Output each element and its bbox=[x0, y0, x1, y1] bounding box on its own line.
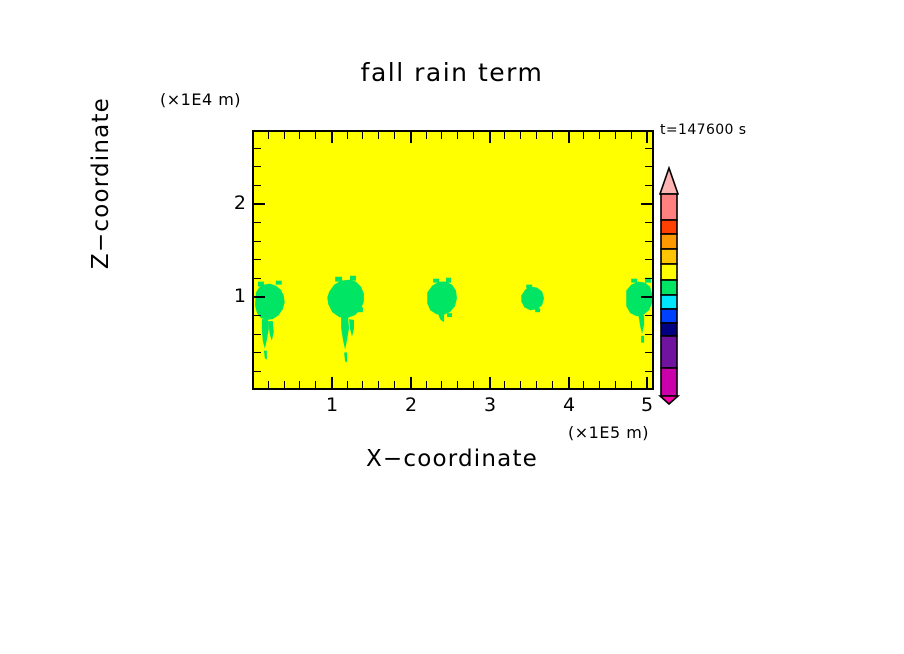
y-axis-unit-label: (×1E4 m) bbox=[160, 90, 241, 109]
y-tick-label-1: 1 bbox=[206, 285, 246, 307]
figure-canvas: fall rain term (×1E4 m) Z−coordinate bbox=[0, 0, 904, 654]
colorbar-band-10 bbox=[661, 368, 677, 396]
colorbar-band-9 bbox=[661, 336, 677, 368]
colorbar-band-5 bbox=[661, 280, 677, 295]
x-tick-label-2: 2 bbox=[391, 394, 431, 416]
plot-area bbox=[252, 130, 654, 390]
colorbar: 0.003 0 −0.003 −9.9e−3 bbox=[658, 166, 688, 406]
x-tick-label-1: 1 bbox=[312, 394, 352, 416]
y-axis-label: Z−coordinate bbox=[88, 73, 114, 293]
x-tick-label-3: 3 bbox=[470, 394, 510, 416]
colorbar-band-4 bbox=[661, 264, 677, 280]
y-tick-label-2: 2 bbox=[206, 192, 246, 214]
field-background bbox=[254, 132, 652, 388]
page-title: fall rain term bbox=[0, 58, 904, 87]
scalar-field-render bbox=[254, 132, 652, 388]
colorbar-band-8 bbox=[661, 323, 677, 336]
x-axis-unit-label: (×1E5 m) bbox=[568, 423, 649, 442]
x-axis-label: X−coordinate bbox=[0, 446, 904, 472]
colorbar-band-1 bbox=[661, 220, 677, 234]
colorbar-band-7 bbox=[661, 309, 677, 323]
x-tick-label-4: 4 bbox=[549, 394, 589, 416]
colorbar-band-6 bbox=[661, 295, 677, 309]
colorbar-cap-bottom bbox=[660, 396, 678, 404]
colorbar-band-3 bbox=[661, 249, 677, 264]
colorbar-band-0 bbox=[661, 194, 677, 220]
colorbar-gradient bbox=[658, 166, 688, 406]
time-annotation: t=147600 s bbox=[660, 122, 746, 138]
colorbar-cap-top bbox=[660, 168, 678, 194]
colorbar-band-2 bbox=[661, 234, 677, 249]
